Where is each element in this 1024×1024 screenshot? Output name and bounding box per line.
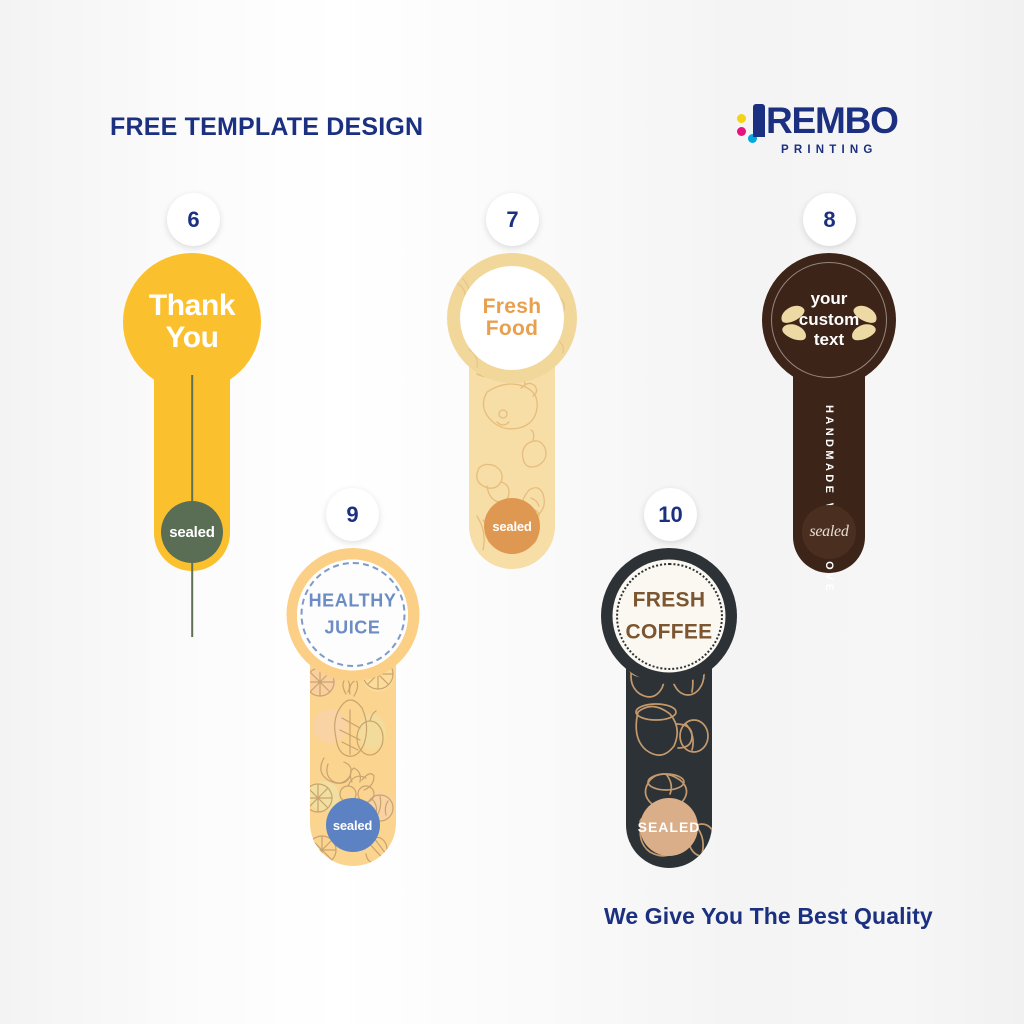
- head-line-2: You: [149, 322, 235, 354]
- badge-number: 9: [346, 502, 358, 528]
- template-card-fresh-coffee[interactable]: FRESH COFFEE SEALED: [601, 548, 737, 868]
- seal-text: sealed: [492, 519, 531, 534]
- logo-subtitle: PRINTING: [781, 144, 878, 156]
- tag-head: Thank You: [123, 253, 261, 391]
- tag-inner-circle: Fresh Food: [460, 266, 564, 370]
- dotted-ring: [616, 563, 723, 670]
- number-badge-10[interactable]: 10: [644, 488, 697, 541]
- template-card-fresh-food[interactable]: Fresh Food sealed: [447, 253, 577, 569]
- seal-text: sealed: [169, 524, 215, 541]
- template-card-custom-text[interactable]: your custom text HANDMADE WITH LOVE seal…: [762, 253, 896, 573]
- dashed-ring: [300, 562, 405, 667]
- badge-number: 6: [187, 207, 199, 233]
- template-card-thank-you[interactable]: Thank You sealed: [123, 253, 261, 571]
- tag-body-vertical-text: HANDMADE WITH LOVE: [749, 405, 909, 600]
- tag-inner-circle: HEALTHY JUICE: [297, 559, 408, 670]
- head-line-1: Fresh: [483, 296, 542, 318]
- number-badge-8[interactable]: 8: [803, 193, 856, 246]
- tag-head: your custom text: [762, 253, 896, 387]
- seal-badge: sealed: [802, 505, 856, 559]
- head-line-2: custom: [799, 310, 859, 331]
- number-badge-6[interactable]: 6: [167, 193, 220, 246]
- footer-tagline: We Give You The Best Quality: [604, 903, 933, 930]
- head-line-1: Thank: [149, 290, 235, 322]
- vertical-label: HANDMADE WITH LOVE: [823, 405, 835, 595]
- tag-head: Fresh Food: [447, 253, 577, 383]
- tag-head: HEALTHY JUICE: [286, 548, 419, 681]
- logo-wordmark: REMBO: [753, 102, 898, 139]
- seal-text: sealed: [809, 523, 848, 541]
- poster-canvas: FREE TEMPLATE DESIGN REMBO PRINTING 6 Th…: [0, 0, 1024, 1024]
- logo-brand-text: REMBO: [766, 100, 898, 141]
- page-title: FREE TEMPLATE DESIGN: [110, 113, 423, 142]
- badge-number: 7: [506, 207, 518, 233]
- seal-badge: sealed: [484, 498, 540, 554]
- badge-number: 10: [658, 502, 682, 528]
- tag-inner-circle: FRESH COFFEE: [613, 560, 726, 673]
- seal-text: sealed: [333, 818, 372, 833]
- seal-badge: SEALED: [640, 798, 698, 856]
- seal-badge: sealed: [326, 798, 380, 852]
- template-card-healthy-juice[interactable]: HEALTHY JUICE sealed: [286, 548, 419, 866]
- number-badge-9[interactable]: 9: [326, 488, 379, 541]
- seal-badge: sealed: [161, 501, 223, 563]
- head-line-3: text: [799, 330, 859, 351]
- head-line-1: your: [799, 289, 859, 310]
- number-badge-7[interactable]: 7: [486, 193, 539, 246]
- tag-head-text: Thank You: [149, 290, 235, 354]
- tag-head: FRESH COFFEE: [601, 548, 737, 684]
- tag-head-text: Fresh Food: [483, 296, 542, 341]
- head-line-2: Food: [483, 318, 542, 340]
- badge-number: 8: [823, 207, 835, 233]
- seal-text: SEALED: [638, 819, 701, 835]
- rembo-printing-logo: REMBO PRINTING: [737, 100, 927, 164]
- tag-head-text: your custom text: [799, 289, 859, 351]
